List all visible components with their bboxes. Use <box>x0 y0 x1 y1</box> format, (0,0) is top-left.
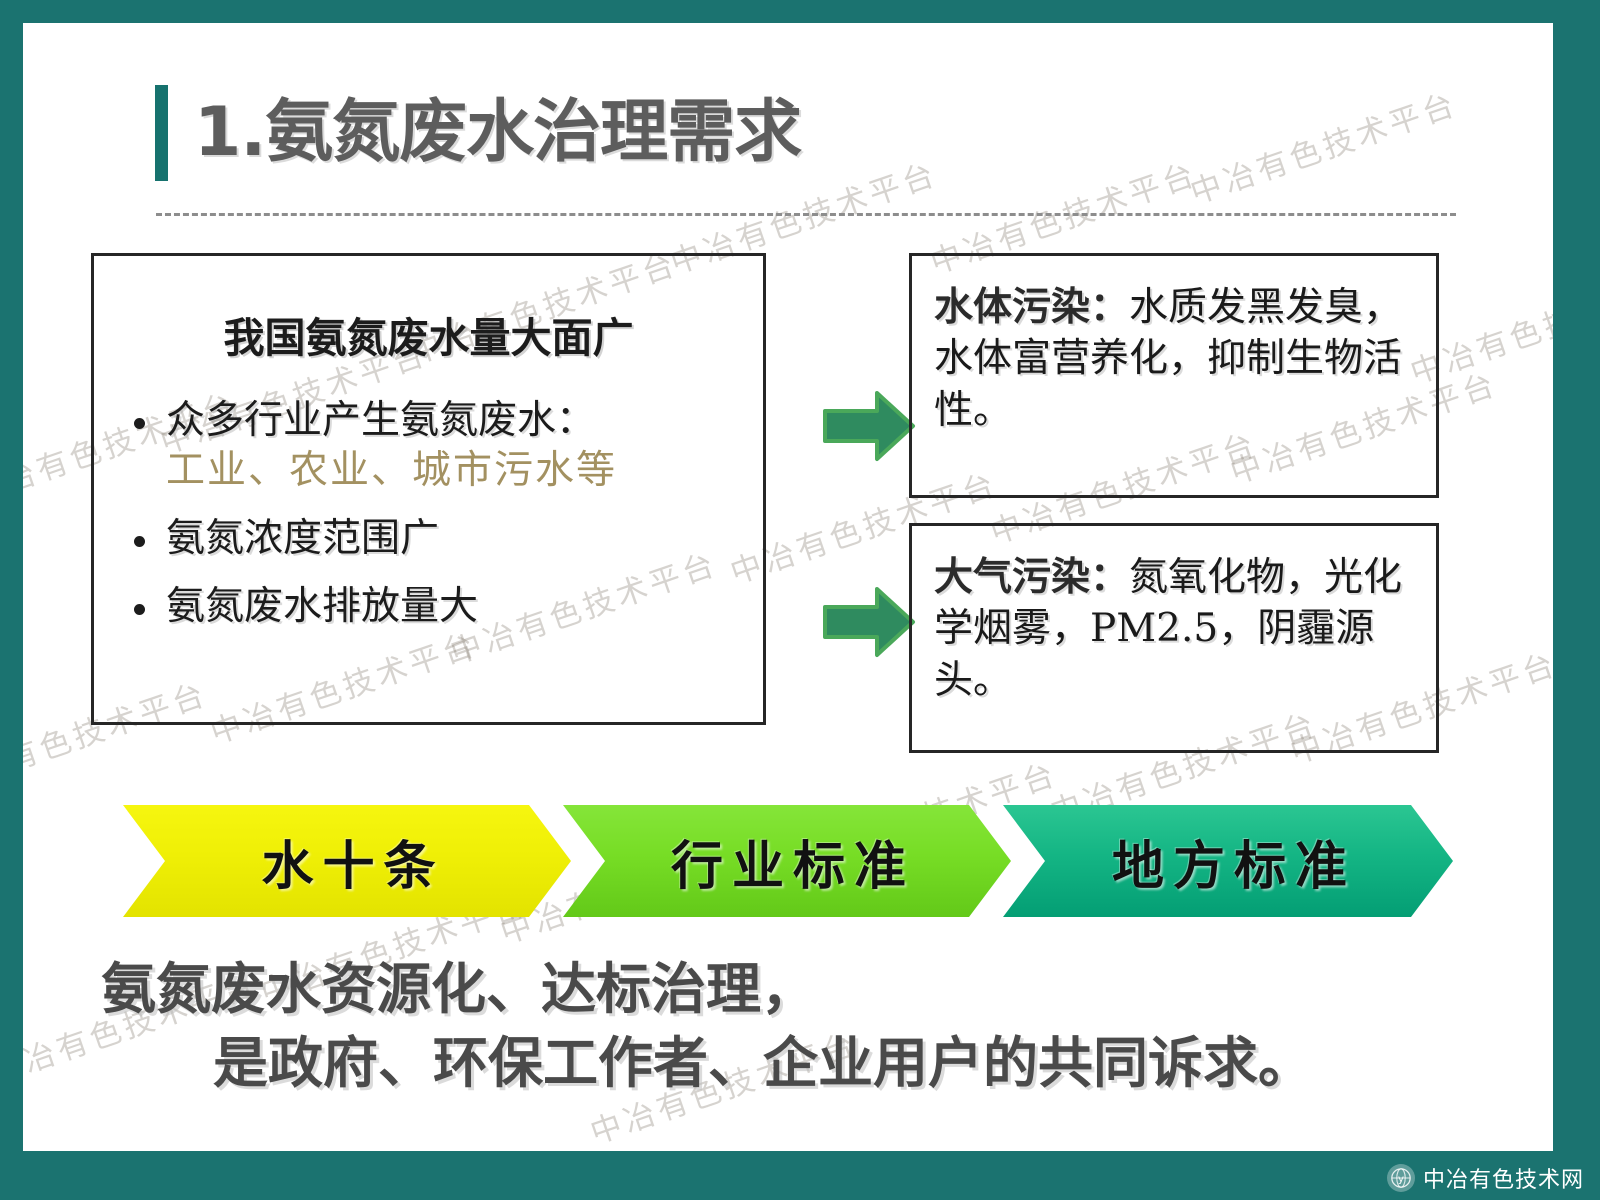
water-pollution-box: 水体污染：水质发黑发臭，水体富营养化，抑制生物活性。 <box>909 253 1439 498</box>
globe-icon: y <box>1387 1164 1415 1192</box>
bullet-text: 氨氮废水排放量大 <box>166 584 478 629</box>
page-title: 1.氨氮废水治理需求 <box>155 85 801 181</box>
bullet-text: 众多行业产生氨氮废水： <box>166 398 595 443</box>
title-divider <box>156 213 1456 216</box>
footer-site-name: 中冶有色技术网 <box>1423 1162 1584 1194</box>
slide-frame: 中冶有色技术平台 中冶有色技术平台 中冶有色技术平台 中冶有色技术平台 中冶有色… <box>0 0 1600 1200</box>
list-item: 众多行业产生氨氮废水： 工业、农业、城市污水等 <box>128 398 739 494</box>
watermark-text: 中冶有色技术平台 <box>1183 79 1462 213</box>
left-content-box: 我国氨氮废水量大面广 众多行业产生氨氮废水： 工业、农业、城市污水等 氨氮浓度范… <box>91 253 766 725</box>
svg-text:y: y <box>1398 1174 1404 1185</box>
water-pollution-lead: 水体污染： <box>934 285 1129 330</box>
title-accent-bar <box>155 85 168 181</box>
bullet-text: 氨氮浓度范围广 <box>166 516 439 561</box>
chevron-water-ten-rules: 水十条 <box>123 805 571 917</box>
bottom-statement: 氨氮废水资源化、达标治理， 是政府、环保工作者、企业用户的共同诉求。 <box>101 953 1521 1100</box>
chevron-label: 水十条 <box>249 824 444 899</box>
standards-chevron-banner: 水十条 行业标准 地方标准 <box>123 805 1453 917</box>
right-arrow-icon <box>821 389 917 463</box>
right-arrow-icon <box>821 585 917 659</box>
chevron-label: 行业标准 <box>659 824 915 899</box>
title-label: 1.氨氮废水治理需求 <box>194 99 801 167</box>
footer-branding: y 中冶有色技术网 <box>1387 1162 1584 1194</box>
list-item: 氨氮浓度范围广 <box>128 516 739 562</box>
air-pollution-box: 大气污染：氮氧化物，光化学烟雾，PM2.5，阴霾源头。 <box>909 523 1439 753</box>
chevron-label: 地方标准 <box>1100 824 1356 899</box>
air-pollution-lead: 大气污染： <box>934 555 1129 600</box>
water-pollution-text: 水体污染：水质发黑发臭，水体富营养化，抑制生物活性。 <box>934 282 1416 436</box>
bottom-statement-line-1: 氨氮废水资源化、达标治理， <box>101 953 1521 1027</box>
bullet-subtext: 工业、农业、城市污水等 <box>166 448 739 494</box>
left-box-heading: 我国氨氮废水量大面广 <box>94 304 763 364</box>
list-item: 氨氮废水排放量大 <box>128 584 739 630</box>
slide-canvas: 中冶有色技术平台 中冶有色技术平台 中冶有色技术平台 中冶有色技术平台 中冶有色… <box>23 23 1553 1151</box>
air-pollution-text: 大气污染：氮氧化物，光化学烟雾，PM2.5，阴霾源头。 <box>934 552 1416 706</box>
chevron-industry-standard: 行业标准 <box>563 805 1011 917</box>
bottom-statement-line-2: 是政府、环保工作者、企业用户的共同诉求。 <box>101 1027 1521 1101</box>
chevron-local-standard: 地方标准 <box>1003 805 1453 917</box>
left-box-bullet-list: 众多行业产生氨氮废水： 工业、农业、城市污水等 氨氮浓度范围广 氨氮废水排放量大 <box>94 398 763 630</box>
